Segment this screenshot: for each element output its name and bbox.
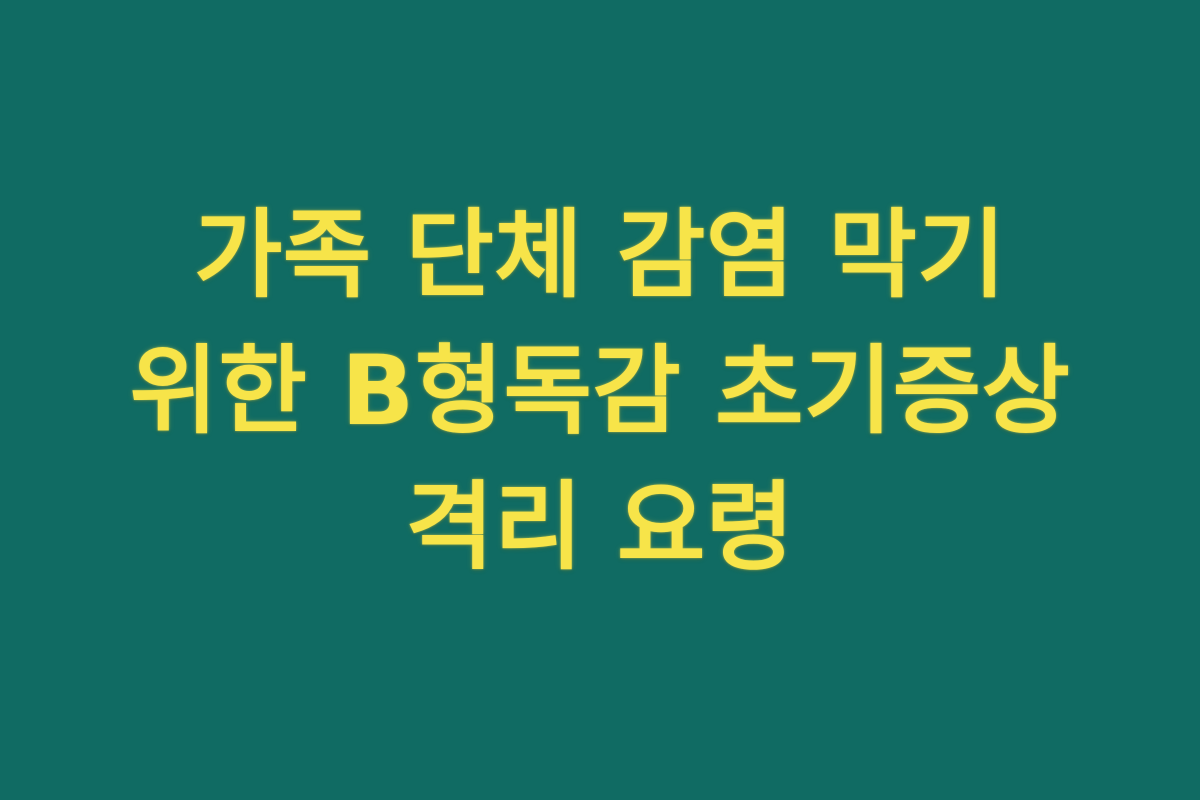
banner-canvas: 가족 단체 감염 막기 위한 B형독감 초기증상 격리 요령 — [0, 0, 1200, 800]
headline-text: 가족 단체 감염 막기 위한 B형독감 초기증상 격리 요령 — [95, 187, 1105, 596]
